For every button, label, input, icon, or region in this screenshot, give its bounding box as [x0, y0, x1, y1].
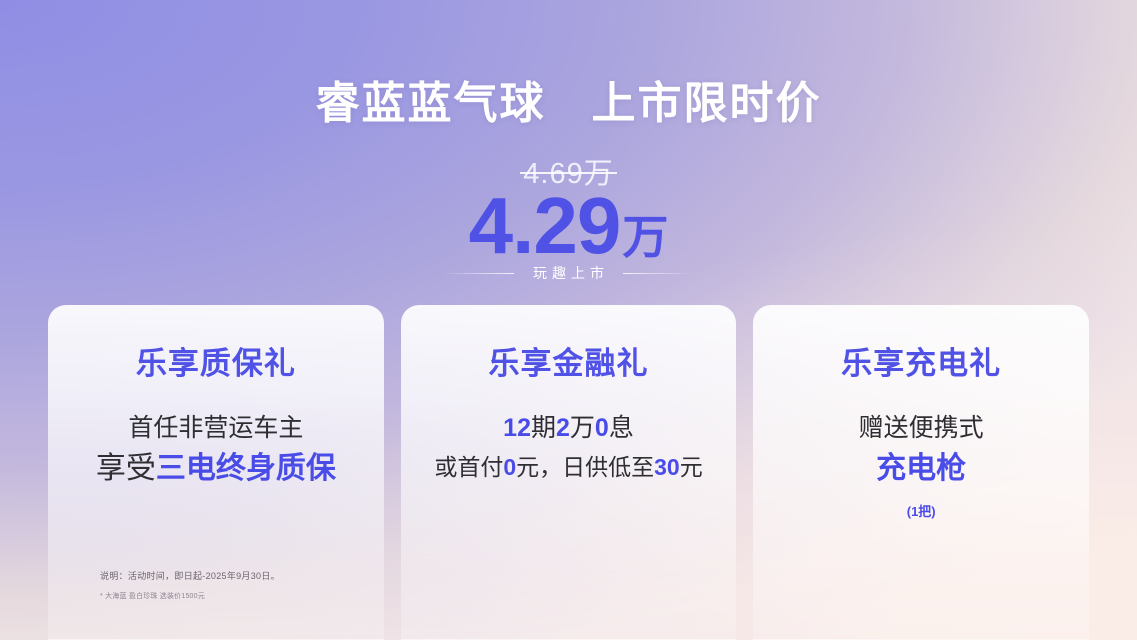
benefit-card-finance[interactable]: 乐享金融礼 12期2万0息 或首付0元，日供低至30元 [401, 305, 737, 640]
card-title-charging: 乐享充电礼 [753, 347, 1089, 381]
warranty-line-2: 享受三电终身质保 [48, 449, 384, 490]
finance-term-unit: 期 [531, 414, 556, 442]
finance-interest-label: 息 [609, 414, 634, 442]
finance-line-1: 12期2万0息 [401, 409, 737, 449]
finance-line-2: 或首付0元，日供低至30元 [401, 449, 737, 485]
footer-note-period: 说明：活动时间，即日起-2025年9月30日。 [100, 570, 280, 584]
card-title-warranty: 乐享质保礼 [48, 347, 384, 381]
finance-daily-label: 元，日供低至 [516, 454, 654, 480]
tagline-rule-right [623, 273, 695, 274]
charging-line-2: 充电枪 [753, 449, 1089, 490]
warranty-line-1: 首任非营运车主 [48, 409, 384, 449]
promo-price-unit: 万 [622, 211, 668, 263]
card-title-finance: 乐享金融礼 [401, 347, 737, 381]
promo-poster: 睿蓝蓝气球 上市限时价 4.69万 4.29万 玩趣上市 乐享质保礼 首任非营运… [0, 0, 1137, 640]
card-body-charging: 赠送便携式 充电枪 (1把) [753, 409, 1089, 529]
footer-note-option: * 大海蓝 盈白珍珠 选装价1500元 [100, 592, 280, 603]
finance-interest: 0 [595, 414, 609, 442]
card-body-warranty: 首任非营运车主 享受三电终身质保 [48, 409, 384, 489]
finance-term-count: 12 [503, 414, 531, 442]
card-body-finance: 12期2万0息 或首付0元，日供低至30元 [401, 409, 737, 485]
finance-daily-value: 30 [654, 454, 680, 480]
poster-title: 睿蓝蓝气球 上市限时价 [0, 78, 1137, 131]
finance-downpay-value: 0 [503, 454, 516, 480]
tagline-text: 玩趣上市 [528, 263, 609, 283]
finance-downpay-label: 或首付 [434, 454, 503, 480]
warranty-line-2-highlight: 三电终身质保 [156, 452, 336, 485]
finance-daily-unit: 元 [680, 454, 703, 480]
tagline-row: 玩趣上市 [0, 263, 1137, 283]
charging-line-1: 赠送便携式 [753, 409, 1089, 449]
promo-price-number: 4.29 [469, 181, 621, 270]
footer-notes: 说明：活动时间，即日起-2025年9月30日。 * 大海蓝 盈白珍珠 选装价15… [100, 570, 280, 602]
promo-price: 4.29万 [0, 186, 1137, 266]
benefit-card-charging[interactable]: 乐享充电礼 赠送便携式 充电枪 (1把) [753, 305, 1089, 640]
finance-amount: 2 [556, 414, 570, 442]
warranty-line-2-prefix: 享受 [96, 452, 156, 485]
finance-amount-unit: 万 [570, 414, 595, 442]
charging-quantity-note: (1把) [907, 504, 936, 519]
tagline-rule-left [442, 273, 514, 274]
